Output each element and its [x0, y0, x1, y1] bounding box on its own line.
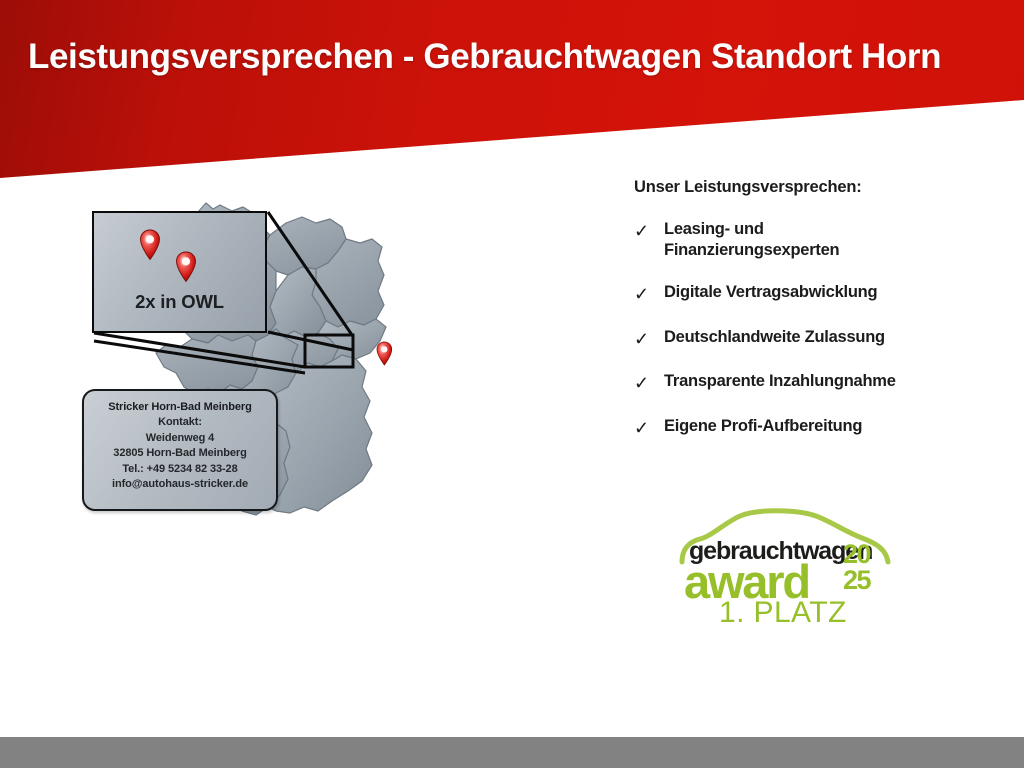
contact-line: Kontakt: [84, 415, 276, 431]
award-year: 20 25 [843, 541, 870, 594]
inset-label: 2x in OWL [94, 291, 265, 313]
check-icon: ✓ [634, 327, 664, 351]
check-icon: ✓ [634, 416, 664, 440]
check-icon: ✓ [634, 219, 664, 243]
contact-email: info@autohaus-stricker.de [84, 477, 276, 493]
check-icon: ✓ [634, 282, 664, 306]
promise-heading: Unser Leistungsversprechen: [634, 178, 1004, 197]
contact-line: Weidenweg 4 [84, 431, 276, 447]
promise-label: Transparente Inzahlungnahme [664, 371, 896, 392]
brand-logo-bar: Horn Nutzfahrzeuge Service SKODA Service [0, 650, 1024, 738]
contact-phone: Tel.: +49 5234 82 33-28 [84, 462, 276, 478]
inset-pin-2 [175, 251, 197, 283]
promise-item: ✓ Digitale Vertragsabwicklung [634, 282, 1004, 306]
promise-label: Digitale Vertragsabwicklung [664, 282, 877, 303]
map-inset-box: 2x in OWL [92, 211, 267, 333]
award-year-bottom: 25 [843, 567, 870, 593]
footer-bar [0, 737, 1024, 768]
slide-canvas: Leistungsversprechen - Gebrauchtwagen St… [0, 0, 1024, 768]
promise-item: ✓ Eigene Profi-Aufbereitung [634, 416, 1004, 440]
contact-title: Stricker Horn-Bad Meinberg [84, 401, 276, 413]
promise-list: Unser Leistungsversprechen: ✓ Leasing- u… [634, 178, 1004, 460]
check-icon: ✓ [634, 371, 664, 395]
promise-label: Eigene Profi-Aufbereitung [664, 416, 862, 437]
promise-label: Deutschlandweite Zulassung [664, 327, 885, 348]
promise-item: ✓ Transparente Inzahlungnahme [634, 371, 1004, 395]
header-banner [0, 0, 1024, 180]
page-title: Leistungsversprechen - Gebrauchtwagen St… [28, 37, 941, 77]
contact-line: 32805 Horn-Bad Meinberg [84, 446, 276, 462]
award-rank: 1. PLATZ [719, 596, 847, 630]
inset-pin-1 [139, 229, 161, 261]
award-year-top: 20 [843, 541, 870, 567]
award-logo: gebrauchtwagen award 20 25 1. PLATZ [676, 506, 901, 631]
promise-label: Leasing- und Finanzierungsexperten [664, 219, 839, 261]
promise-item: ✓ Leasing- und Finanzierungsexperten [634, 219, 1004, 261]
contact-info-box: Stricker Horn-Bad Meinberg Kontakt: Weid… [82, 389, 278, 511]
promise-item: ✓ Deutschlandweite Zulassung [634, 327, 1004, 351]
